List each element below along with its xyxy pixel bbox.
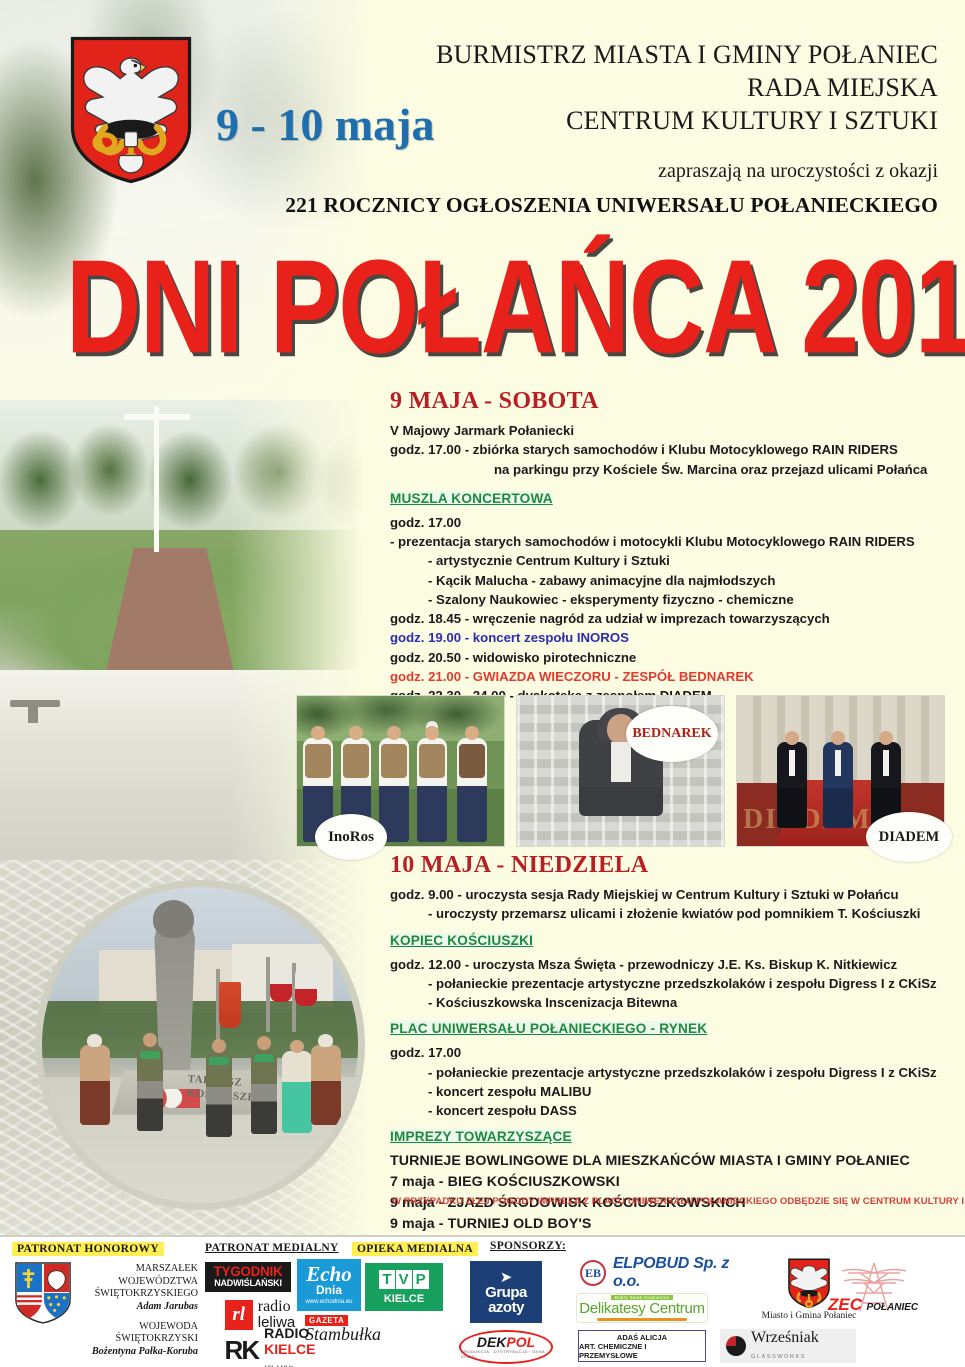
rk-line-1: RADIO (264, 1325, 309, 1341)
zec-text: ZEC POŁANIEC (828, 1295, 918, 1315)
photo-cross-vertical (154, 406, 159, 552)
wrzesniak-text: Wrześniak GLASSWORKS (751, 1330, 819, 1362)
organizer-line-1: BURMISTRZ MIASTA I GMINY POŁANIEC (436, 38, 938, 71)
radio-kielce-text: RADIO KIELCE 101,4 MHz (264, 1326, 315, 1367)
monument-photo-circle: TADEUSZ KOŚCIUSZKO (35, 880, 365, 1210)
delikatesy-name: Delikatesy Centrum (579, 1300, 704, 1317)
program-line: na parkingu przy Kościele Św. Marcina or… (390, 460, 955, 479)
dekpol-part-1: DEK (477, 1334, 507, 1350)
sponsor-footer: PATRONAT HONOROWY PATRONAT MEDIALNY OPIE… (0, 1235, 965, 1367)
swietokrzyskie-coat-of-arms-icon (14, 1261, 72, 1325)
adas-line-2: ART. CHEMICZNE I PRZEMYSŁOWE (579, 1342, 705, 1360)
dekpol-tagline: PRODUKCJA · DYSTRYBUCJA · OKNA · DRZWI (461, 1349, 551, 1359)
tvp-letter-p: P (413, 1270, 429, 1289)
suit-shirt (883, 750, 889, 776)
program-line: - koncert zespołu DASS (390, 1101, 955, 1120)
wrzesniak-mark-icon (726, 1336, 746, 1356)
program-line: - koncert zespołu MALIBU (390, 1082, 955, 1101)
adas-line-1: ADAŚ ALICJA (617, 1333, 667, 1342)
monument-banner-1 (219, 982, 241, 1028)
program-line-inoros: godz. 19.00 - koncert zespołu INOROS (390, 628, 955, 647)
band-card-diadem: DIADEM DIADEM (736, 695, 945, 847)
venue-kopiec-kosciuszki: KOPIEC KOŚCIUSZKI (390, 933, 533, 948)
rk-line-2: KIELCE (264, 1341, 315, 1357)
tvp-letter-t: T (379, 1270, 394, 1289)
azoty-arrow-icon: ➤ (500, 1270, 513, 1285)
folk-vest (419, 744, 445, 778)
logo-dekpol: DEKPOL PRODUKCJA · DYSTRYBUCJA · OKNA · … (459, 1330, 553, 1364)
wrzesniak-name: Wrześniak (751, 1329, 819, 1346)
program-line: TURNIEJE BOWLINGOWE DLA MIESZKAŃCÓW MIAS… (390, 1151, 955, 1172)
organizer-line-2: RADA MIEJSKA (436, 71, 938, 104)
tygodnik-line-1: TYGODNIK (214, 1265, 283, 1279)
patronage-voivodeship: MARSZAŁEK WOJEWÓDZTWA ŚWIĘTOKRZYSKIEGO A… (14, 1261, 198, 1358)
radio-kielce-mark: RK (225, 1335, 259, 1366)
folk-vest (459, 744, 485, 778)
elpobud-mark: EB (580, 1260, 606, 1286)
logo-wrzesniak-glassworks: Wrześniak GLASSWORKS (720, 1329, 856, 1363)
delikatesy-underline (597, 1318, 687, 1321)
band-photo-row: InoRos BEDNAREK DIADEM (296, 695, 951, 847)
program-line: godz. 17.00 (390, 513, 955, 532)
program-line: godz. 9.00 - uroczysta sesja Rady Miejsk… (390, 885, 955, 904)
heading-patronat-honorowy: PATRONAT HONOROWY (12, 1242, 164, 1256)
suit-shirt (789, 750, 795, 776)
zec-line-2: POŁANIEC (866, 1302, 918, 1313)
program-line: - Szalony Naukowiec - eksperymenty fizyc… (390, 590, 955, 609)
polaniec-shield-icon (786, 1257, 832, 1309)
program-sunday: 10 MAJA - NIEDZIELA godz. 9.00 - uroczys… (390, 852, 955, 1234)
heading-patronat-medialny: PATRONAT MEDIALNY (205, 1242, 339, 1254)
logo-adas-alicja: ADAŚ ALICJA ART. CHEMICZNE I PRZEMYSŁOWE (578, 1330, 706, 1362)
monument-banner-3 (295, 972, 317, 1006)
program-line: godz. 17.00 (390, 1043, 955, 1062)
program-line-bednarek: godz. 21.00 - GWIAZDA WIECZORU - ZESPÓŁ … (390, 667, 955, 686)
logo-radio-kielce: RK RADIO KIELCE 101,4 MHz (205, 1334, 335, 1366)
program-line: - połanieckie prezentacje artystyczne pr… (390, 1063, 955, 1082)
program-line: - Kącik Malucha - zabawy animacyjne dla … (390, 571, 955, 590)
date-range: 9 - 10 maja (216, 98, 434, 151)
wrzesniak-subtitle: GLASSWORKS (751, 1354, 806, 1360)
heading-opieka-medialna: OPIEKA MEDIALNA (352, 1242, 478, 1256)
wojewoda-line-1: WOJEWODA (80, 1321, 198, 1334)
band-label-inoros: InoRos (315, 814, 387, 860)
program-line: V Majowy Jarmark Połaniecki (390, 421, 955, 440)
program-line: 9 maja - TURNIEJ OLD BOY'S (390, 1214, 955, 1235)
day-heading-sunday: 10 MAJA - NIEDZIELA (390, 852, 955, 879)
band-label-bednarek: BEDNAREK (626, 706, 718, 762)
photo-cross-horizontal (124, 414, 190, 420)
spacer (390, 924, 955, 928)
dekpol-part-2: POL (506, 1334, 535, 1350)
venue-muszla-koncertowa: MUSZLA KONCERTOWA (390, 491, 553, 506)
bednarek-shirt (611, 742, 631, 782)
monument-banner-2 (270, 966, 292, 1002)
venue-imprezy-towarzyszace: IMPREZY TOWARZYSZĄCE (390, 1129, 572, 1144)
band-label-diadem: DIADEM (866, 812, 952, 862)
inoros-member-5 (457, 738, 487, 842)
program-line: godz. 20.50 - widowisko pirotechniczne (390, 648, 955, 667)
scout-scarf (209, 1057, 229, 1065)
folk-vest (305, 744, 331, 778)
monument-reenactor-1 (80, 1045, 110, 1125)
tygodnik-line-2: NADWIŚLAŃSKI (214, 1278, 282, 1289)
monument-scout-1 (137, 1045, 163, 1131)
logo-grupa-azoty: ➤ Grupa azoty (470, 1261, 542, 1323)
dekpol-name: DEKPOL (477, 1335, 535, 1349)
marszalek-name: Adam Jarubas (80, 1301, 198, 1314)
program-line: 7 maja - BIEG KOŚCIUSZKOWSKI (390, 1172, 955, 1193)
program-line: - artystycznie Centrum Kultury i Sztuki (390, 551, 955, 570)
anniversary-text: 221 ROCZNICY OGŁOSZENIA UNIWERSAŁU POŁAN… (285, 193, 938, 218)
monument-scout-2 (206, 1051, 232, 1137)
program-line: godz. 18.45 - wręczenie nagród za udział… (390, 609, 955, 628)
folk-vest (343, 744, 369, 778)
invitation-text: zapraszają na uroczystości z okazji (658, 160, 938, 183)
program-saturday: 9 MAJA - SOBOTA V Majowy Jarmark Połanie… (390, 388, 955, 705)
leliwa-mark: rl (225, 1300, 253, 1330)
dekpol-oval: DEKPOL PRODUKCJA · DYSTRYBUCJA · OKNA · … (459, 1330, 553, 1364)
monument-reenactor-2 (311, 1045, 341, 1125)
logo-tygodnik-nadwislanski: TYGODNIK NADWIŚLAŃSKI (205, 1262, 291, 1292)
day-heading-saturday: 9 MAJA - SOBOTA (390, 388, 955, 415)
band-card-bednarek: BEDNAREK (516, 695, 725, 847)
leliwa-line-1: radio (258, 1298, 291, 1315)
inoros-member-4 (417, 738, 447, 842)
scout-scarf (140, 1051, 160, 1059)
polaniec-coat-of-arms-icon (66, 34, 196, 186)
monument-scout-3 (251, 1048, 277, 1134)
marszalek-line-2: WOJEWÓDZTWA (80, 1276, 198, 1289)
marszalek-line-3: ŚWIĘTOKRZYSKIEGO (80, 1288, 198, 1301)
diadem-member-2 (823, 742, 853, 828)
program-line: godz. 17.00 - zbiórka starych samochodów… (390, 440, 955, 459)
marszalek-line-1: MARSZAŁEK (80, 1263, 198, 1276)
photo-bench (10, 700, 60, 707)
venue-plac-uniwersalu: PLAC UNIWERSAŁU POŁANIECKIEGO - RYNEK (390, 1021, 707, 1036)
logo-zec-polaniec: ZEC POŁANIEC (828, 1259, 948, 1321)
elpobud-name: ELPOBUD Sp. z o.o. (613, 1255, 760, 1291)
weather-disclaimer: W PRZYPADKU ZŁEJ POGODY IMPREZA Z PLACU … (392, 1196, 952, 1207)
heading-sponsorzy: SPONSORZY: (490, 1240, 566, 1252)
logo-elpobud: EB ELPOBUD Sp. z o.o. (580, 1259, 760, 1287)
tvp-mark: T V P (379, 1270, 428, 1289)
logo-delikatesy-centrum: Dobry Smak Codziennie Delikatesy Centrum (576, 1293, 708, 1323)
program-line: - Kościuszkowska Inscenizacja Bitewna (390, 993, 955, 1012)
voivodeship-text: MARSZAŁEK WOJEWÓDZTWA ŚWIĘTOKRZYSKIEGO A… (80, 1261, 198, 1358)
program-line: godz. 12.00 - uroczysta Msza Święta - pr… (390, 955, 955, 974)
azoty-line-2: azoty (488, 1300, 524, 1315)
scout-scarf (254, 1054, 274, 1062)
band-card-inoros: InoRos (296, 695, 505, 847)
monument-folk-lady (282, 1051, 312, 1133)
spacer (80, 1314, 198, 1321)
program-line: - połanieckie prezentacje artystyczne pr… (390, 974, 955, 993)
spacer (390, 1012, 955, 1016)
program-line: - prezentacja starych samochodów i motoc… (390, 532, 955, 551)
wojewoda-name: Bożentyna Pałka-Koruba (80, 1346, 198, 1359)
folk-vest (381, 744, 407, 778)
program-line: - uroczysty przemarsz ulicami i złożenie… (390, 904, 955, 923)
echo-line-1: Echo (306, 1265, 352, 1285)
logo-tvp-kielce: T V P KIELCE (365, 1263, 443, 1311)
organizers-block: BURMISTRZ MIASTA I GMINY POŁANIEC RADA M… (436, 38, 938, 137)
organizer-line-3: CENTRUM KULTURY I SZTUKI (436, 104, 938, 137)
azoty-line-1: Grupa (485, 1285, 527, 1300)
suit-shirt (835, 750, 841, 776)
page-title: DNI POŁAŃCA 2015 (66, 241, 956, 374)
tvp-city: KIELCE (384, 1293, 424, 1305)
kosciuszko-statue-head (153, 900, 194, 938)
zec-line-1: ZEC (828, 1295, 862, 1314)
wojewoda-line-2: ŚWIĘTOKRZYSKI (80, 1333, 198, 1346)
spacer (390, 479, 955, 486)
tvp-letter-v: V (396, 1270, 412, 1289)
spacer (390, 1120, 955, 1124)
echo-line-2: Dnia (316, 1284, 342, 1296)
poster-root: TADEUSZ KOŚCIUSZKO 9 - (0, 0, 965, 1367)
diadem-member-1 (777, 742, 807, 828)
